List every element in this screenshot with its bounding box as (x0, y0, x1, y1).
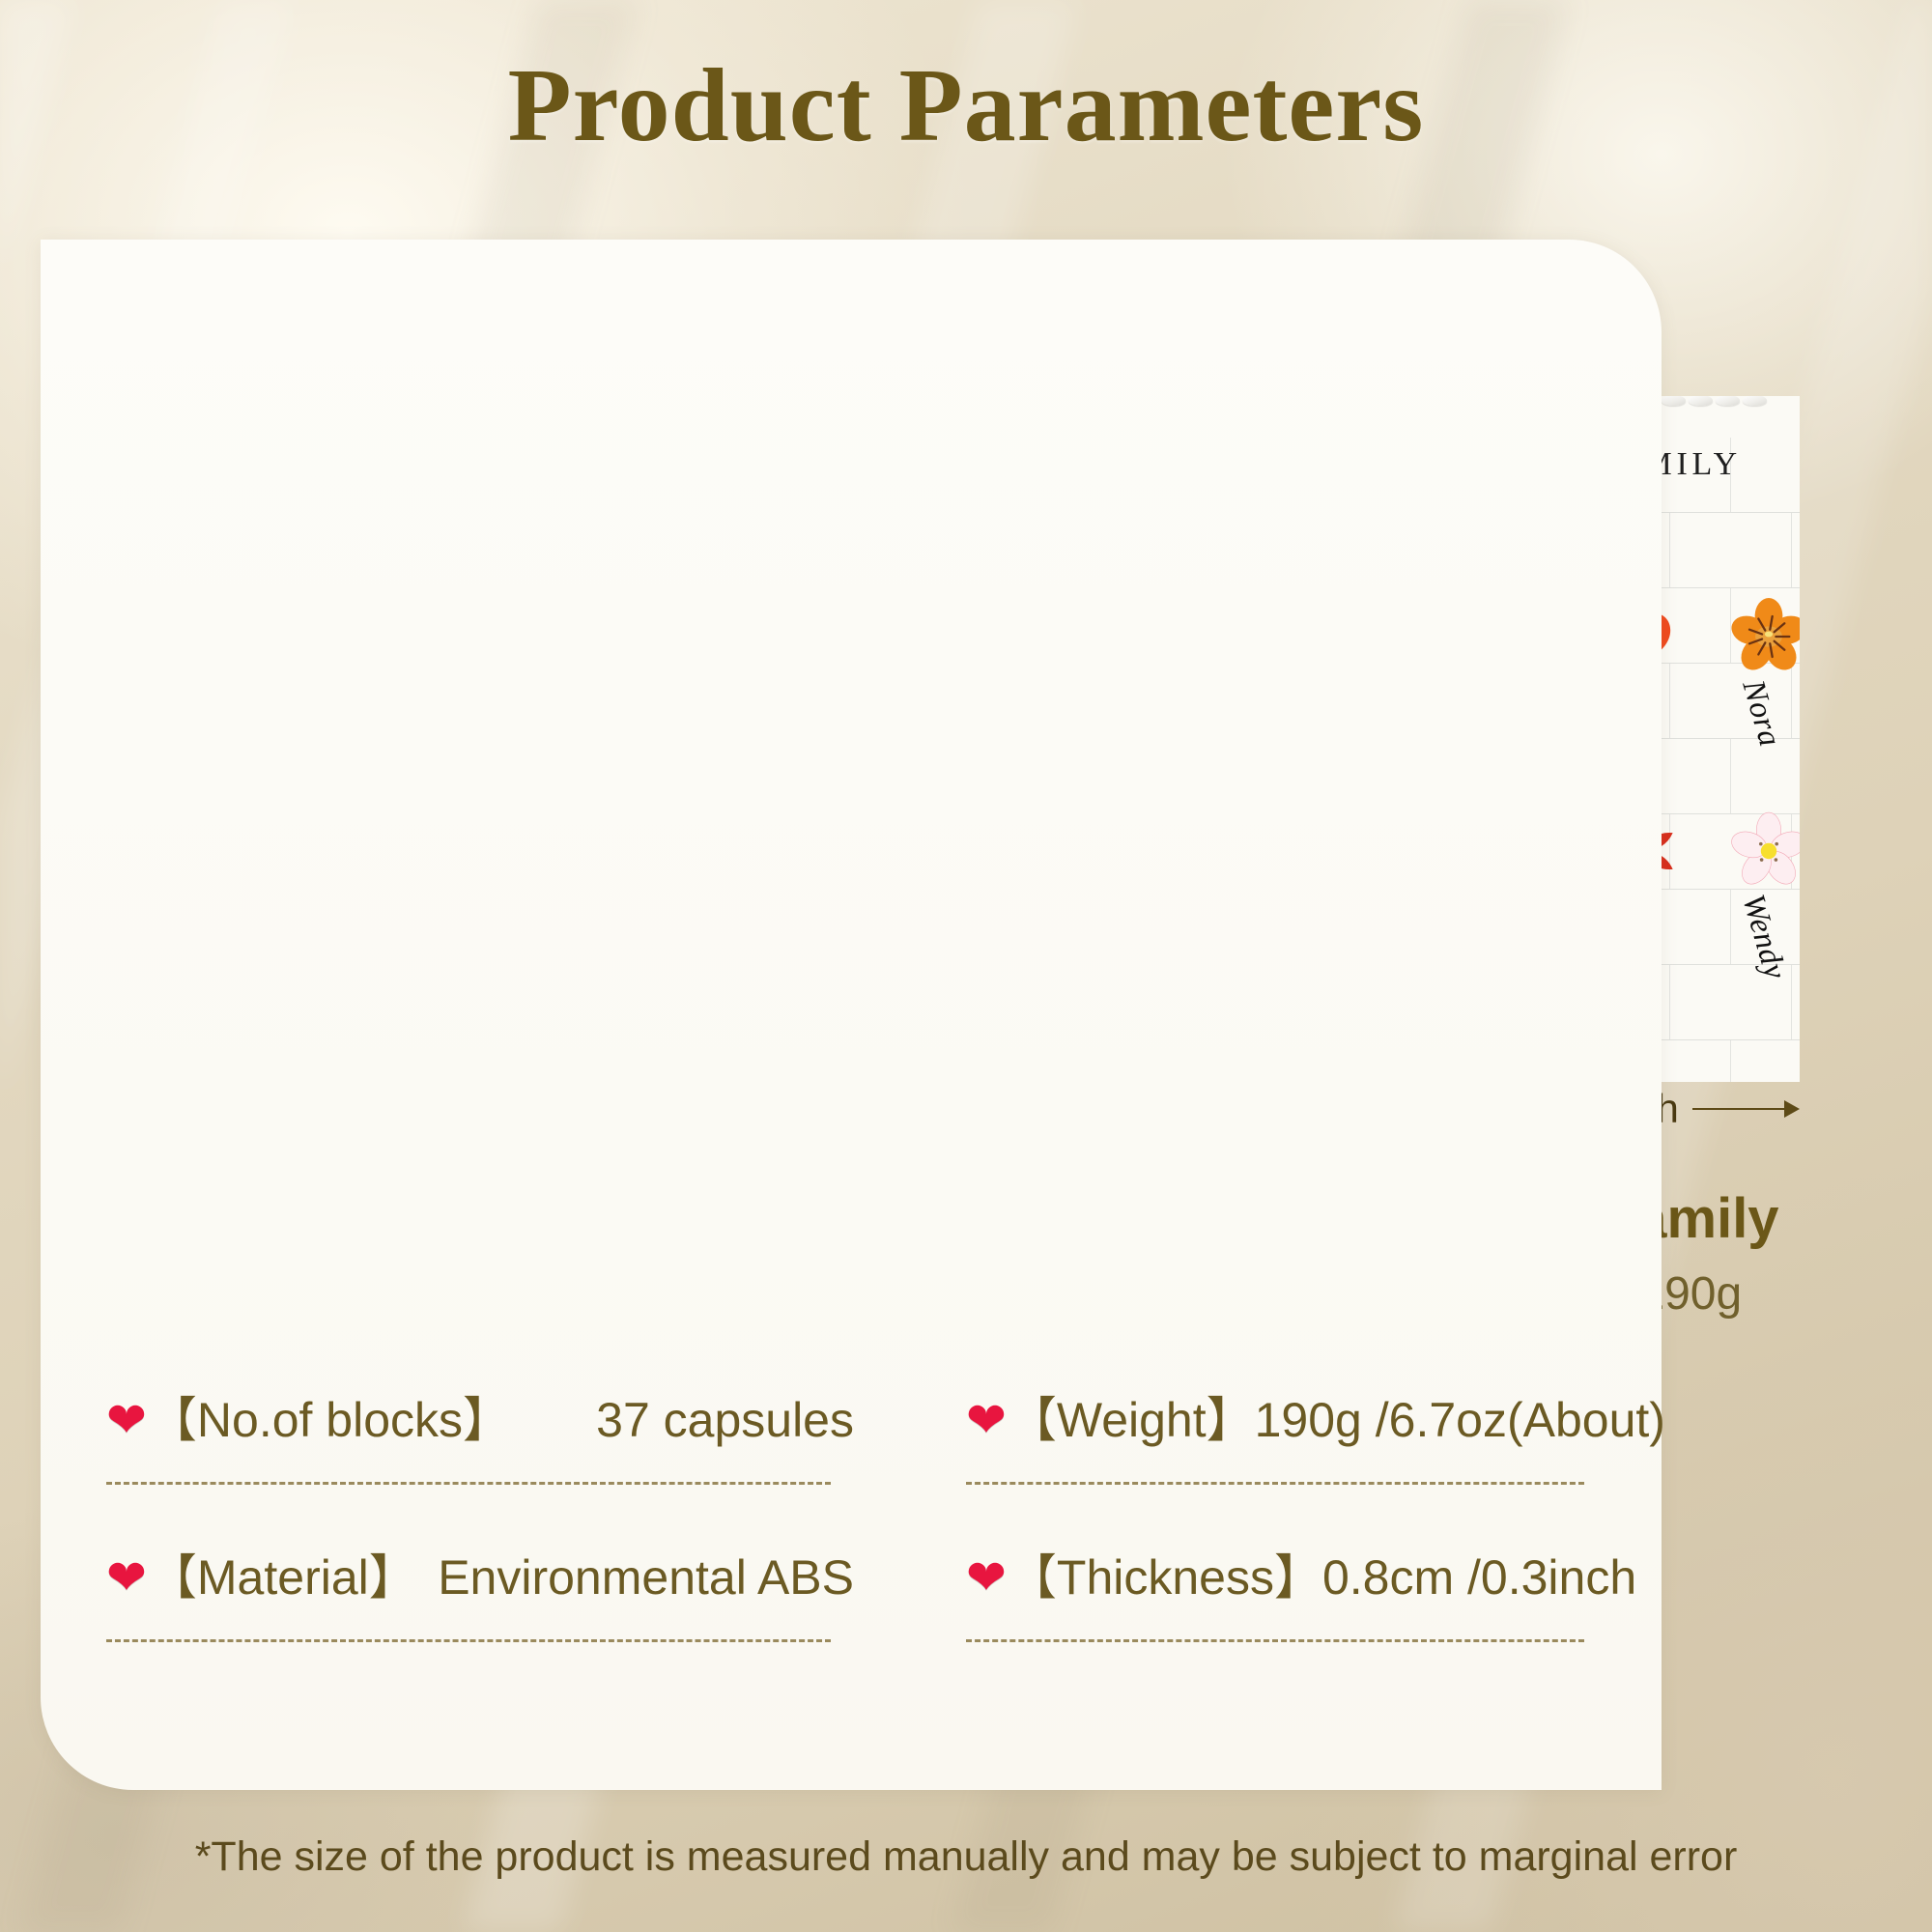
spec-table: ❤【No.of blocks】37 capsules❤【Weight】190g … (106, 1381, 1613, 1696)
spec-value: 37 capsules (511, 1392, 860, 1448)
blossom-pink-icon (1729, 811, 1800, 891)
spec-divider (966, 1639, 1584, 1642)
disclaimer-note: *The size of the product is measured man… (0, 1833, 1932, 1881)
heart-icon: ❤ (966, 1553, 1007, 1602)
dimension-line (1692, 1108, 1784, 1110)
heart-icon: ❤ (106, 1396, 147, 1444)
spec-row: ❤【Material】Environmental ABS❤【Thickness】… (106, 1539, 1613, 1696)
flower-block[interactable]: Nora (1729, 597, 1800, 676)
spec-row: ❤【No.of blocks】37 capsules❤【Weight】190g … (106, 1381, 1613, 1539)
spec-item: ❤【No.of blocks】37 capsules (106, 1381, 860, 1482)
spec-divider (106, 1482, 831, 1485)
stud-icon (1689, 396, 1713, 406)
spec-value: 190g /6.7oz(About) (1255, 1392, 1671, 1448)
spec-cell: ❤【Material】Environmental ABS (106, 1539, 860, 1696)
spec-value: Environmental ABS (417, 1549, 860, 1605)
spec-label: 【Thickness】 (1009, 1539, 1322, 1608)
tile-seam (1792, 965, 1800, 1039)
spec-value: 0.8cm /0.3inch (1322, 1549, 1642, 1605)
flower-block[interactable]: Wendy (1729, 811, 1800, 891)
pansy-orange-icon (1729, 597, 1800, 676)
spec-item: ❤【Material】Environmental ABS (106, 1539, 860, 1639)
spec-label: 【No.of blocks】 (149, 1381, 511, 1451)
spec-item: ❤【Thickness】0.8cm /0.3inch (966, 1539, 1613, 1639)
stud-icon (1716, 396, 1740, 406)
stud-icon (1743, 396, 1767, 406)
page-title: Product Parameters (0, 46, 1932, 166)
heart-icon: ❤ (106, 1553, 147, 1602)
arrow-right-icon (1784, 1100, 1800, 1118)
spec-spacer (966, 1642, 1613, 1696)
spec-spacer (966, 1485, 1613, 1539)
spec-label: 【Material】 (149, 1539, 417, 1608)
spec-divider (106, 1639, 831, 1642)
heart-icon: ❤ (966, 1396, 1007, 1444)
spec-cell: ❤【Weight】190g /6.7oz(About) (860, 1381, 1613, 1539)
stud-icon (1662, 396, 1686, 406)
tile-seam (1731, 739, 1800, 813)
spec-cell: ❤【No.of blocks】37 capsules (106, 1381, 860, 1539)
tile-seam (1731, 1040, 1800, 1082)
spec-divider (966, 1482, 1584, 1485)
spec-item: ❤【Weight】190g /6.7oz(About) (966, 1381, 1613, 1482)
spec-label: 【Weight】 (1009, 1381, 1255, 1451)
spec-cell: ❤【Thickness】0.8cm /0.3inch (860, 1539, 1613, 1696)
spec-spacer (106, 1642, 860, 1696)
spec-spacer (106, 1485, 860, 1539)
